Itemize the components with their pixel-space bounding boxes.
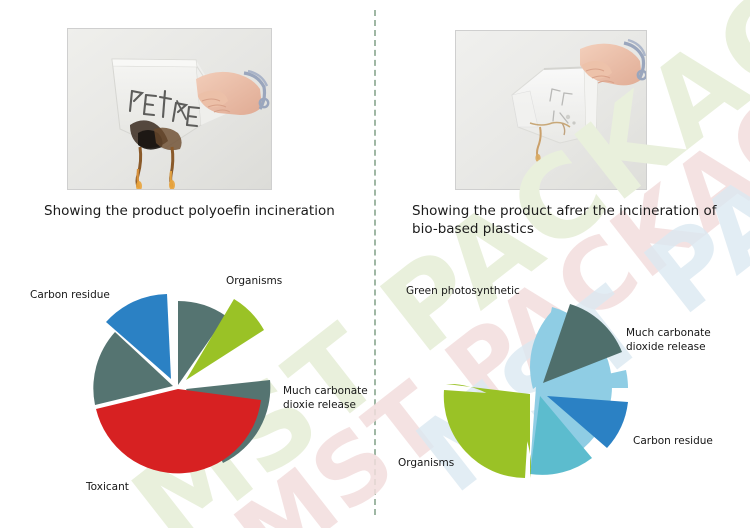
page-root: Showing the product polyoefin incinerati… <box>0 0 750 528</box>
photo-biobased-incineration <box>455 30 647 190</box>
caption-right: Showing the product afrer the incinerati… <box>412 202 732 238</box>
photo-right-graphic <box>456 31 646 189</box>
photo-left-graphic <box>68 29 271 189</box>
caption-left: Showing the product polyoefin incinerati… <box>44 202 374 220</box>
pie-label-right-much-carbonate-line2: dioxide release <box>626 341 706 353</box>
pie-label-right-carbon-residue: Carbon residue <box>633 435 713 447</box>
pie-chart-left-svg: Carbon residue Organisms Much carbonate … <box>10 258 380 518</box>
pie-label-left-carbon-residue: Carbon residue <box>30 289 110 301</box>
pie-label-right-green-photosynthetic: Green photosynthetic <box>406 285 520 297</box>
pie-label-left-much-carbonate-line2: dioxie release <box>283 399 356 411</box>
pie-chart-polyolefin: Carbon residue Organisms Much carbonate … <box>10 258 380 518</box>
pie-slice-left-toxicant[interactable] <box>96 389 261 473</box>
pie-label-right-organisms: Organisms <box>398 457 454 469</box>
pie-slices-left <box>93 294 270 473</box>
pie-label-left-organisms: Organisms <box>226 275 282 287</box>
pie-label-left-much-carbonate-line1: Much carbonate <box>283 385 368 397</box>
pie-slices-right <box>444 304 628 478</box>
pie-chart-right-svg: Green photosynthetic Much carbonate diox… <box>380 268 750 518</box>
photo-polyolefin-incineration <box>67 28 272 190</box>
pie-label-left-toxicant: Toxicant <box>85 481 129 493</box>
pie-label-right-much-carbonate-line1: Much carbonate <box>626 327 711 339</box>
pie-chart-biobased: Green photosynthetic Much carbonate diox… <box>380 268 750 518</box>
